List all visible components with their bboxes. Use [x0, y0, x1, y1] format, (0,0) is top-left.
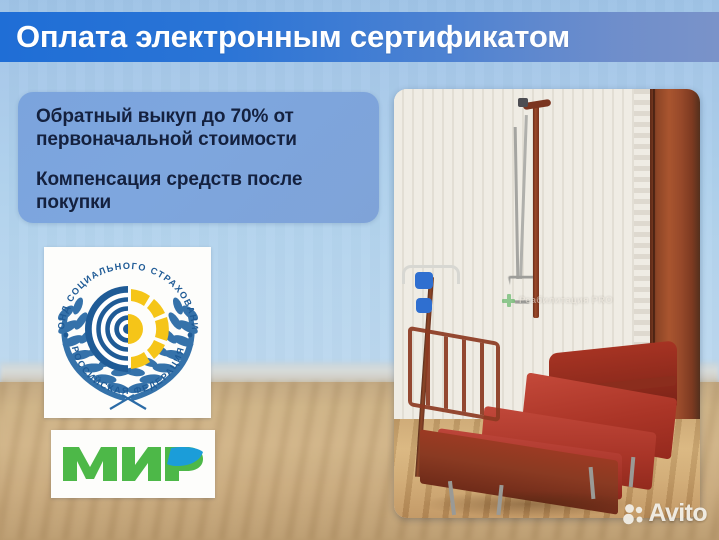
photo-watermark-text: Реабилитация PRO — [519, 295, 613, 306]
fss-logo-icon: ФОНД СОЦИАЛЬНОГО СТРАХОВАНИЯ РОССИЙСКАЯ … — [48, 251, 208, 414]
mir-logo-icon — [59, 439, 207, 489]
listing-image-canvas: Оплата электронным сертификатом Обратный… — [0, 0, 719, 540]
product-photo[interactable]: Реабилитация PRO — [394, 89, 700, 518]
benefit-line-2: Компенсация средств после покупки — [36, 168, 361, 214]
benefit-line-1: Обратный выкуп до 70% от первоначальной … — [36, 105, 361, 151]
banner-title: Оплата электронным сертификатом — [0, 19, 570, 55]
photo-iv-clamp-lower — [416, 298, 432, 313]
photo-iv-clamp-upper — [415, 272, 433, 289]
avito-watermark: Avito — [623, 501, 707, 526]
benefits-card: Обратный выкуп до 70% от первоначальной … — [18, 92, 379, 223]
green-cross-icon — [502, 294, 515, 307]
avito-wordmark: Avito — [648, 501, 707, 526]
photo-watermark: Реабилитация PRO — [502, 294, 613, 307]
photo-scene: Реабилитация PRO — [394, 89, 700, 518]
fss-logo-card: ФОНД СОЦИАЛЬНОГО СТРАХОВАНИЯ РОССИЙСКАЯ … — [44, 247, 211, 418]
title-banner: Оплата электронным сертификатом — [0, 12, 719, 62]
avito-logo-icon — [623, 503, 645, 525]
mir-logo-card — [51, 430, 215, 498]
photo-bed-side-rail — [408, 326, 500, 422]
photo-lift-cap — [518, 98, 528, 107]
photo-lift-pole — [533, 103, 539, 318]
